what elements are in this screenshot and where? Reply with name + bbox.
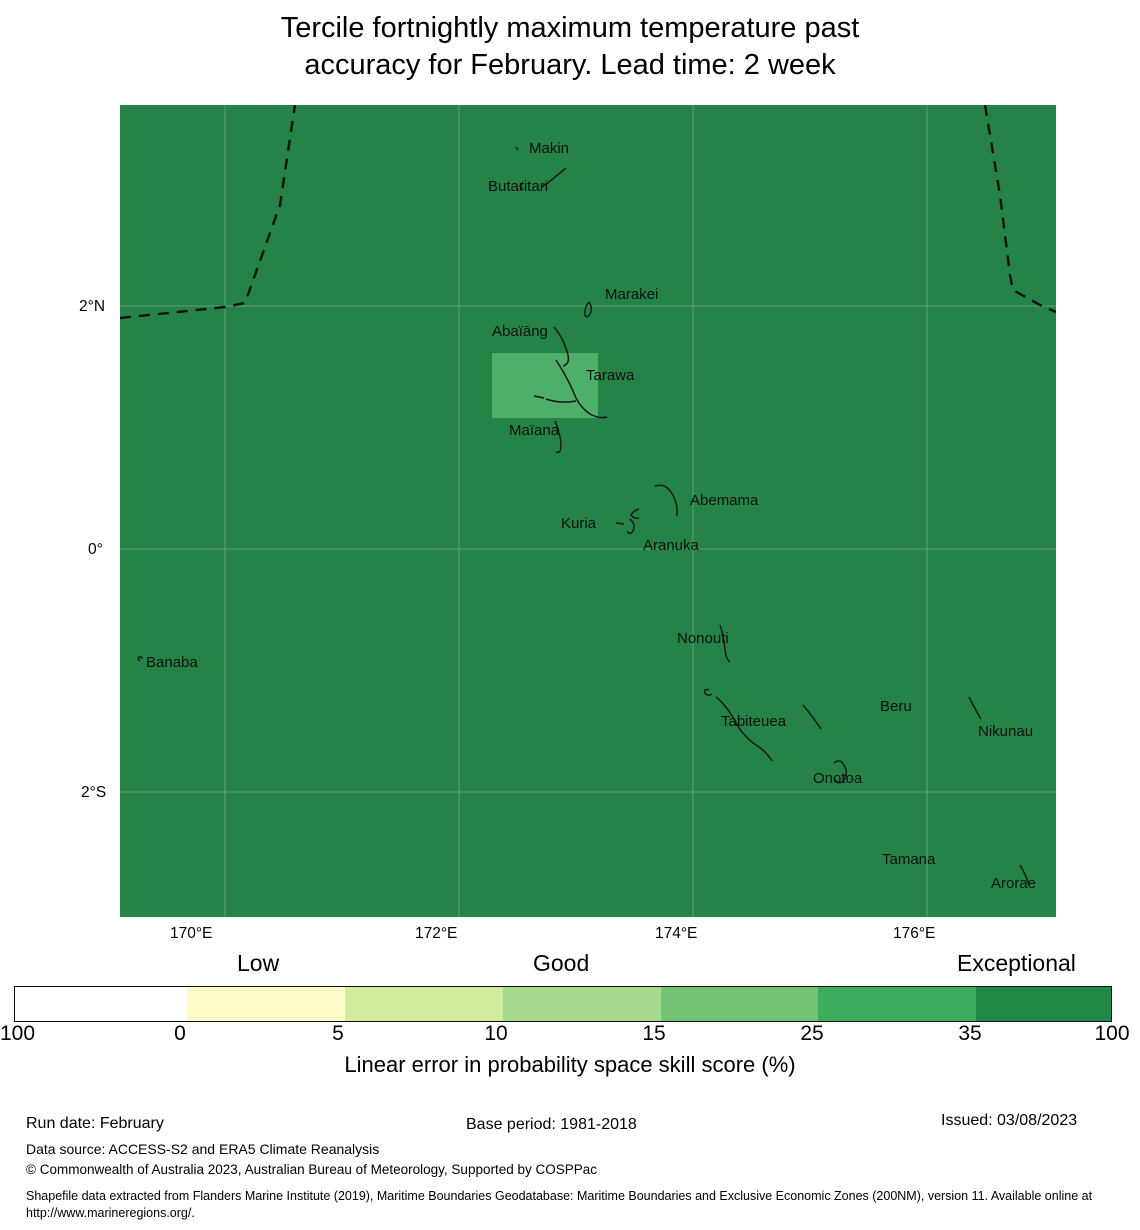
footer-data-source: Data source: ACCESS-S2 and ERA5 Climate … <box>26 1141 379 1157</box>
y-axis-tick-0: 0° <box>88 541 103 559</box>
eez-boundary-east <box>985 105 1056 312</box>
colorbar-segment-5-10 <box>345 987 503 1021</box>
island-label-tabiteuea: Tabiteuea <box>721 713 786 730</box>
colorbar-tick-25: 25 <box>800 1022 823 1046</box>
footer-shapefile-attribution: Shapefile data extracted from Flanders M… <box>26 1188 1126 1222</box>
page-title: Tercile fortnightly maximum temperature … <box>0 10 1140 84</box>
colorbar-tick-15: 15 <box>642 1022 665 1046</box>
island-label-arorae: Arorae <box>991 875 1036 892</box>
map-plot-area[interactable]: Makin Butaritari Marakei Abaïāng Tarawa… <box>120 105 1056 917</box>
island-label-maiana: Maïana <box>509 422 559 439</box>
footer-run-date: Run date: February <box>26 1115 164 1133</box>
island-label-tarawa: Tarawa <box>586 367 634 384</box>
colorbar-segment-35-100 <box>976 987 1111 1021</box>
island-label-beru: Beru <box>880 698 912 715</box>
colorbar-segment-0-5 <box>187 987 345 1021</box>
colorbar-segment-15-25 <box>661 987 819 1021</box>
colorbar[interactable] <box>14 986 1112 1022</box>
category-label-low: Low <box>237 950 279 977</box>
colorbar-tick-neg100: -100 <box>0 1022 35 1046</box>
x-axis-tick-170e: 170°E <box>170 925 212 943</box>
island-label-marakei: Marakei <box>605 286 658 303</box>
island-label-banaba: Banaba <box>146 654 198 671</box>
colorbar-segment-10-15 <box>503 987 661 1021</box>
footer-issued-date: Issued: 03/08/2023 <box>941 1112 1077 1130</box>
y-axis-tick-2s: 2°S <box>81 784 106 802</box>
island-label-nikunau: Nikunau <box>978 723 1033 740</box>
island-label-butaritari: Butaritari <box>488 178 548 195</box>
map-vector-layer <box>120 105 1056 917</box>
colorbar-tick-35: 35 <box>958 1022 981 1046</box>
x-axis-tick-176e: 176°E <box>893 925 935 943</box>
island-label-nonouti: Nonouti <box>677 630 729 647</box>
graticule-gridlines <box>120 105 1056 917</box>
colorbar-segment-25-35 <box>818 987 976 1021</box>
colorbar-tick-10: 10 <box>484 1022 507 1046</box>
x-axis-tick-172e: 172°E <box>415 925 457 943</box>
eez-boundary-west <box>120 105 295 318</box>
x-axis-tick-174e: 174°E <box>655 925 697 943</box>
colorbar-tick-0: 0 <box>174 1022 186 1046</box>
island-label-aranuka: Aranuka <box>643 537 699 554</box>
colorbar-tick-5: 5 <box>332 1022 344 1046</box>
colorbar-segment-neg100-0 <box>15 987 187 1021</box>
island-label-makin: Makin <box>529 140 569 157</box>
island-label-kuria: Kuria <box>561 515 596 532</box>
colorbar-title: Linear error in probability space skill … <box>0 1052 1140 1078</box>
footer-copyright: © Commonwealth of Australia 2023, Austra… <box>26 1162 597 1177</box>
colorbar-tick-100: 100 <box>1094 1022 1129 1046</box>
category-label-good: Good <box>533 950 589 977</box>
category-label-exceptional: Exceptional <box>957 950 1076 977</box>
island-label-abemama: Abemama <box>690 492 758 509</box>
island-label-onotoa: Onotoa <box>813 770 862 787</box>
island-label-tamana: Tamana <box>882 851 935 868</box>
footer-base-period: Base period: 1981-2018 <box>466 1116 637 1134</box>
y-axis-tick-2n: 2°N <box>79 298 105 316</box>
island-label-abaiang: Abaïāng <box>492 323 548 340</box>
